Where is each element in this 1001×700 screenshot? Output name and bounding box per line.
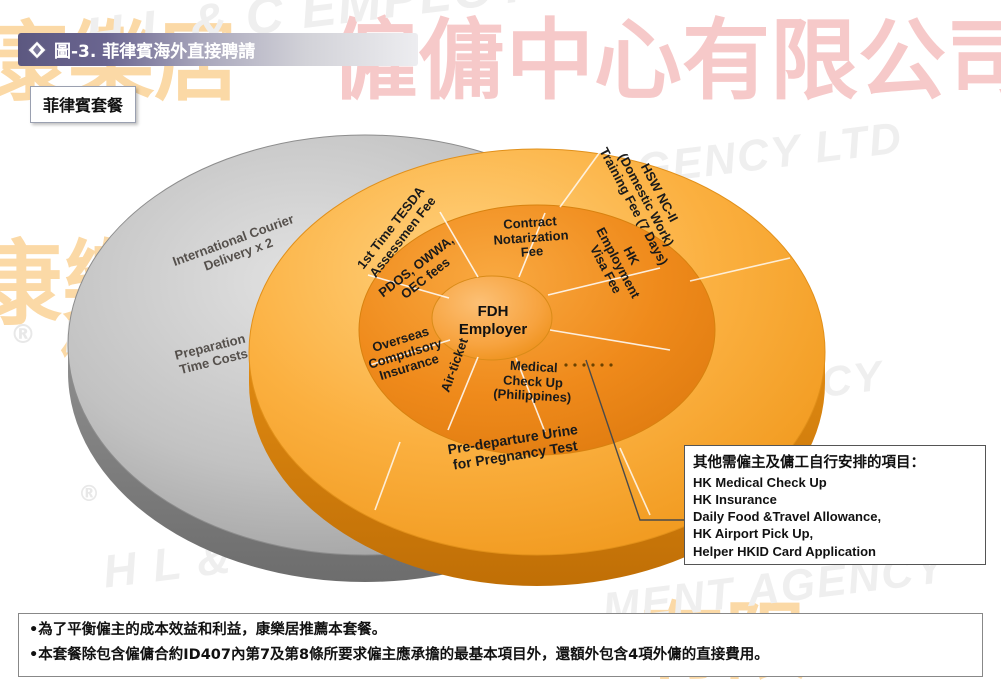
callout-line: Daily Food &Travel Allowance, [685, 508, 985, 525]
callout-box: 其他需僱主及傭工自行安排的項目： HK Medical Check Up HK … [684, 445, 986, 565]
callout-line: Helper HKID Card Application [685, 543, 985, 560]
callout-title: 其他需僱主及傭工自行安排的項目： [685, 446, 985, 474]
callout-line: HK Insurance [685, 491, 985, 508]
callout-line: HK Airport Pick Up, [685, 525, 985, 542]
diagram-svg [0, 0, 1001, 695]
segment-label-contract-notarization: Contract Notarization Fee [475, 212, 588, 263]
pie-diagram: FDH Employer 1st Time TESDA Assessmen Fe… [0, 0, 1001, 695]
footer-note-line: •為了平衡僱主的成本效益和利益，康樂居推薦本套餐。 [19, 614, 982, 639]
segment-label-medical-check: Medical Check Up (Philippines) [477, 357, 589, 406]
callout-line: HK Medical Check Up [685, 474, 985, 491]
footer-notes: •為了平衡僱主的成本效益和利益，康樂居推薦本套餐。 •本套餐除包含僱傭合約ID4… [18, 613, 983, 677]
footer-note-line: •本套餐除包含僱傭合約ID407內第7及第8條所要求僱主應承擔的最基本項目外，還… [19, 639, 982, 664]
